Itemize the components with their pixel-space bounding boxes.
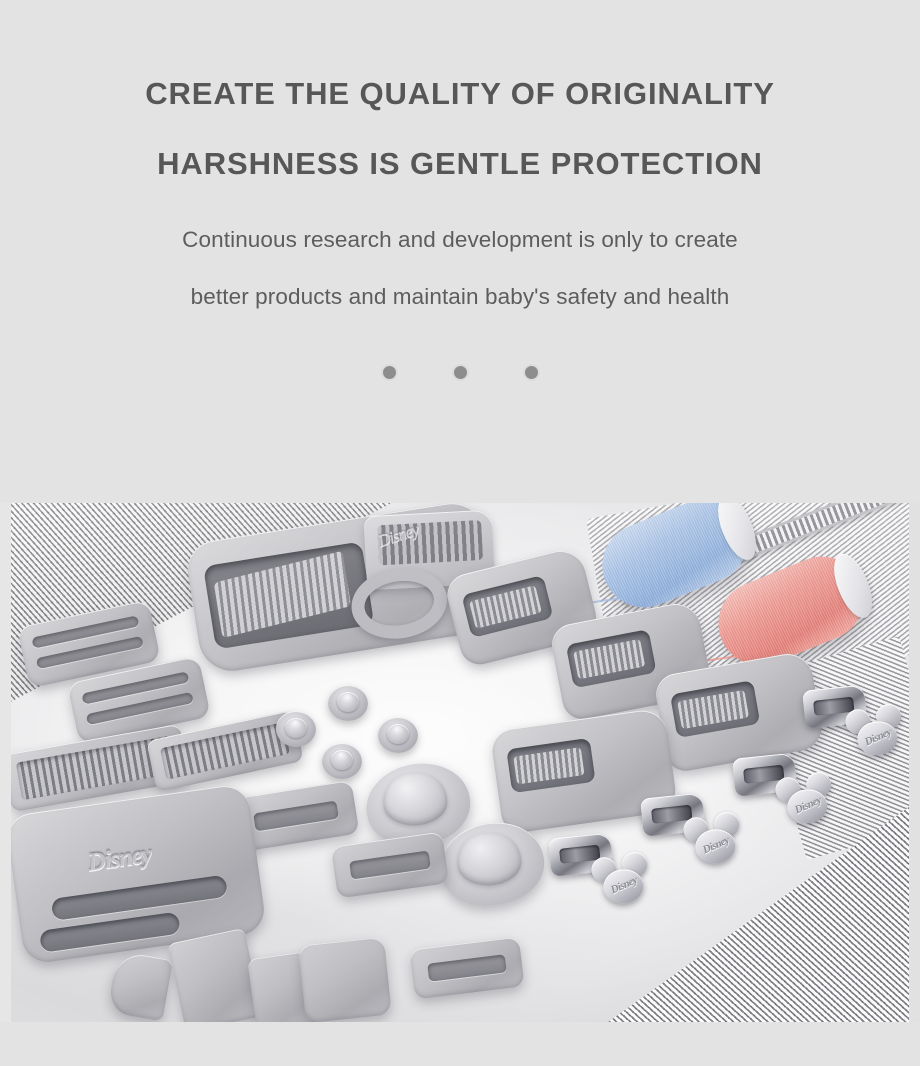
mickey-charm: Disney [844, 705, 905, 759]
zipper-pull-label: Disney [609, 874, 639, 896]
zipper-pull-label: Disney [793, 794, 823, 816]
mickey-charm: Disney [590, 853, 651, 907]
photo-left-gutter [0, 503, 11, 1022]
bottom-spacer [0, 1022, 920, 1066]
clip-slot [427, 954, 507, 981]
snap-button-1 [276, 711, 316, 747]
buckle-bar-slot [51, 875, 228, 921]
subhead-line-1: Continuous research and development is o… [0, 229, 920, 252]
heart-pad-bump [381, 771, 448, 827]
photo-right-gutter [909, 503, 920, 1022]
product-photo: Disney [0, 503, 920, 1022]
clip-slot [349, 851, 431, 880]
snap-button-2 [328, 685, 368, 721]
mickey-charm: Disney [682, 813, 743, 867]
product-photo-canvas: Disney [0, 503, 920, 1022]
subhead-line-2: better products and maintain baby's safe… [0, 286, 920, 309]
header-text-block: CREATE THE QUALITY OF ORIGINALITY HARSHN… [0, 0, 920, 380]
zipper-pull-label: Disney [701, 834, 731, 856]
mickey-charm: Disney [774, 773, 835, 827]
clip-slot [253, 801, 339, 832]
plastic-part-4 [298, 937, 392, 1022]
subhead-block: Continuous research and development is o… [0, 229, 920, 308]
carousel-dot-3[interactable] [525, 366, 538, 379]
carousel-dot-1[interactable] [383, 366, 396, 379]
carousel-dot-2[interactable] [454, 366, 467, 379]
headline-line-2: HARSHNESS IS GENTLE PROTECTION [0, 148, 920, 179]
snap-button-3 [322, 743, 362, 779]
headline-line-1: CREATE THE QUALITY OF ORIGINALITY [0, 78, 920, 109]
zipper-pull-label: Disney [863, 726, 893, 748]
product-banner: CREATE THE QUALITY OF ORIGINALITY HARSHN… [0, 0, 920, 1066]
disney-logo-emboss: Disney [86, 841, 153, 878]
carousel-dots[interactable] [0, 364, 920, 380]
heart-pad-bump [455, 831, 522, 887]
snap-button-4 [378, 717, 418, 753]
